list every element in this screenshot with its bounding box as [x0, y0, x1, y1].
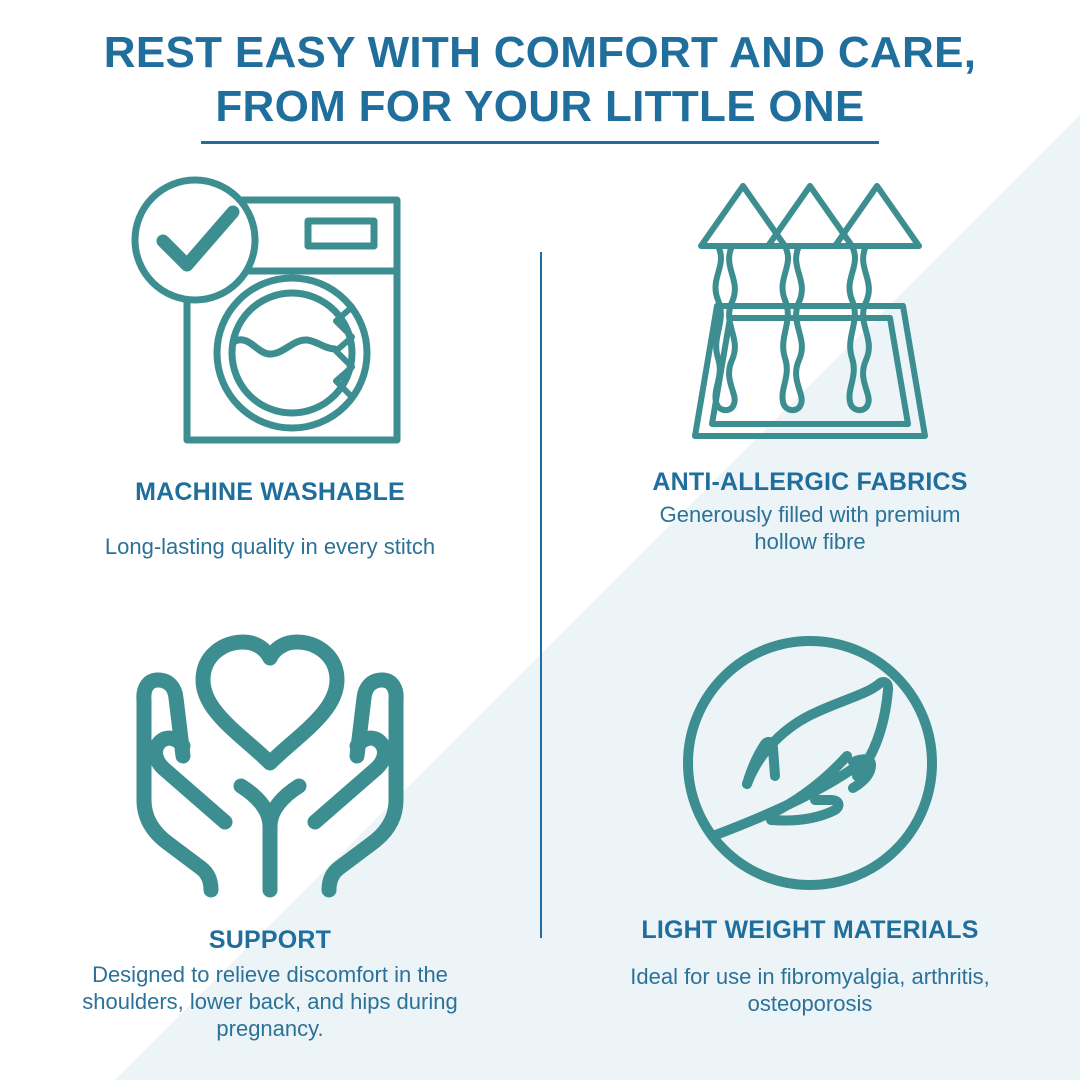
washing-machine-check-icon: [125, 168, 415, 458]
card-title: MACHINE WASHABLE: [135, 478, 405, 506]
infographic-poster: REST EASY WITH COMFORT AND CARE, FROM FO…: [0, 0, 1080, 1080]
card-body: Generously filled with premium hollow fi…: [650, 502, 970, 556]
card-body: Long-lasting quality in every stitch: [100, 534, 440, 561]
feather-in-circle-icon: [675, 628, 945, 898]
breathable-airflow-mattress-icon: [675, 174, 945, 446]
card-title: SUPPORT: [209, 926, 331, 954]
header: REST EASY WITH COMFORT AND CARE, FROM FO…: [0, 26, 1080, 144]
hands-holding-heart-icon: [125, 628, 415, 908]
feature-card-machine-washable: MACHINE WASHABLE Long-lasting quality in…: [0, 160, 540, 620]
feature-card-support: SUPPORT Designed to relieve discomfort i…: [0, 620, 540, 1080]
feature-card-anti-allergic: ANTI-ALLERGIC FABRICS Generously filled …: [540, 160, 1080, 620]
feature-card-light-weight: LIGHT WEIGHT MATERIALS Ideal for use in …: [540, 620, 1080, 1080]
card-title: ANTI-ALLERGIC FABRICS: [652, 468, 967, 496]
feature-card-grid: MACHINE WASHABLE Long-lasting quality in…: [0, 160, 1080, 1080]
headline-line-2: FROM FOR YOUR LITTLE ONE: [0, 80, 1080, 134]
headline-line-1: REST EASY WITH COMFORT AND CARE,: [0, 26, 1080, 80]
card-body: Ideal for use in fibromyalgia, arthritis…: [620, 964, 1000, 1018]
card-body: Designed to relieve discomfort in the sh…: [80, 962, 460, 1042]
card-title: LIGHT WEIGHT MATERIALS: [641, 916, 978, 944]
headline-underline: [201, 141, 879, 144]
